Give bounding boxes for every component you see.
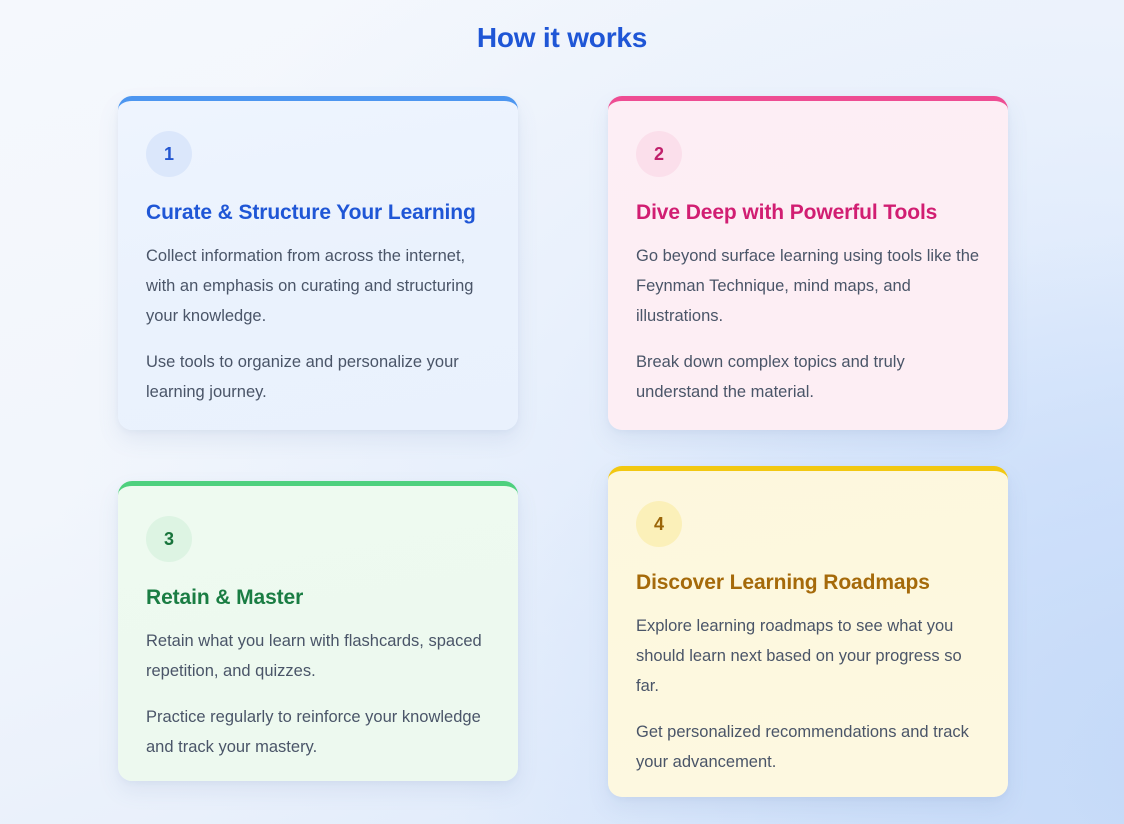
step-paragraph-2-b: Break down complex topics and truly unde… (636, 347, 980, 407)
step-card-4: 4 Discover Learning Roadmaps Explore lea… (608, 466, 1008, 797)
step-card-1: 1 Curate & Structure Your Learning Colle… (118, 96, 518, 430)
step-paragraph-4-b: Get personalized recommendations and tra… (636, 717, 980, 777)
step-paragraph-3-b: Practice regularly to reinforce your kno… (146, 702, 490, 762)
step-number-badge-3: 3 (146, 516, 192, 562)
step-number-badge-4: 4 (636, 501, 682, 547)
step-title-3: Retain & Master (146, 586, 490, 610)
step-number-badge-1: 1 (146, 131, 192, 177)
step-paragraph-1-b: Use tools to organize and personalize yo… (146, 347, 490, 407)
step-paragraph-3-a: Retain what you learn with flashcards, s… (146, 626, 490, 686)
how-it-works-section: How it works 1 Curate & Structure Your L… (0, 0, 1124, 824)
step-paragraph-2-a: Go beyond surface learning using tools l… (636, 241, 980, 331)
step-paragraph-1-a: Collect information from across the inte… (146, 241, 490, 331)
step-paragraph-4-a: Explore learning roadmaps to see what yo… (636, 611, 980, 701)
step-card-2: 2 Dive Deep with Powerful Tools Go beyon… (608, 96, 1008, 430)
step-card-3: 3 Retain & Master Retain what you learn … (118, 481, 518, 781)
step-number-badge-2: 2 (636, 131, 682, 177)
step-title-2: Dive Deep with Powerful Tools (636, 201, 980, 225)
step-title-1: Curate & Structure Your Learning (146, 201, 490, 225)
step-title-4: Discover Learning Roadmaps (636, 571, 980, 595)
page-title: How it works (0, 22, 1124, 54)
